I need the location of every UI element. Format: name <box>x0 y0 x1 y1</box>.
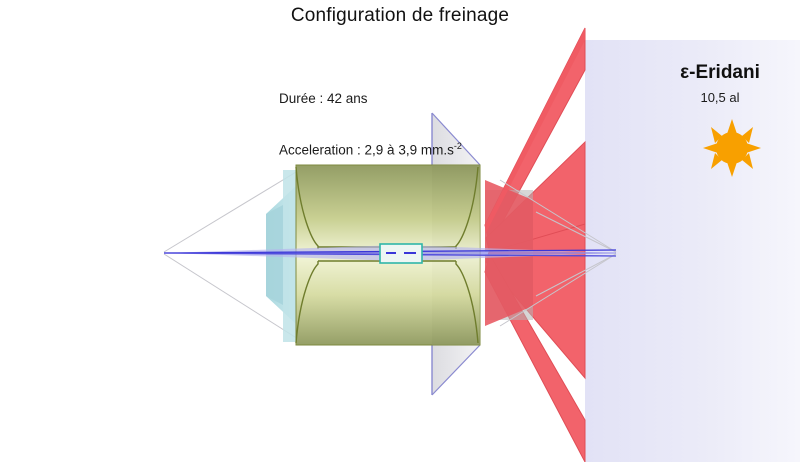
annotation-acceleration-text: Acceleration : 2,9 à 3,9 mm.s <box>279 143 454 158</box>
annotation-acceleration-exponent: -2 <box>454 141 462 151</box>
figure-canvas: Configuration de freinage Durée : 42 ans… <box>0 0 800 462</box>
laser-beam-group <box>485 28 585 462</box>
annotation-duration: Durée : 42 ans <box>279 91 462 108</box>
sun-icon <box>703 119 761 177</box>
target-star-name: ε-Eridani <box>640 61 800 85</box>
target-star-distance: 10,5 al <box>640 90 800 106</box>
page-title: Configuration de freinage <box>0 4 800 28</box>
annotation-acceleration: Acceleration : 2,9 à 3,9 mm.s-2 <box>279 141 462 159</box>
mission-annotation: Durée : 42 ans Acceleration : 2,9 à 3,9 … <box>279 57 462 194</box>
payload-module <box>380 244 422 263</box>
